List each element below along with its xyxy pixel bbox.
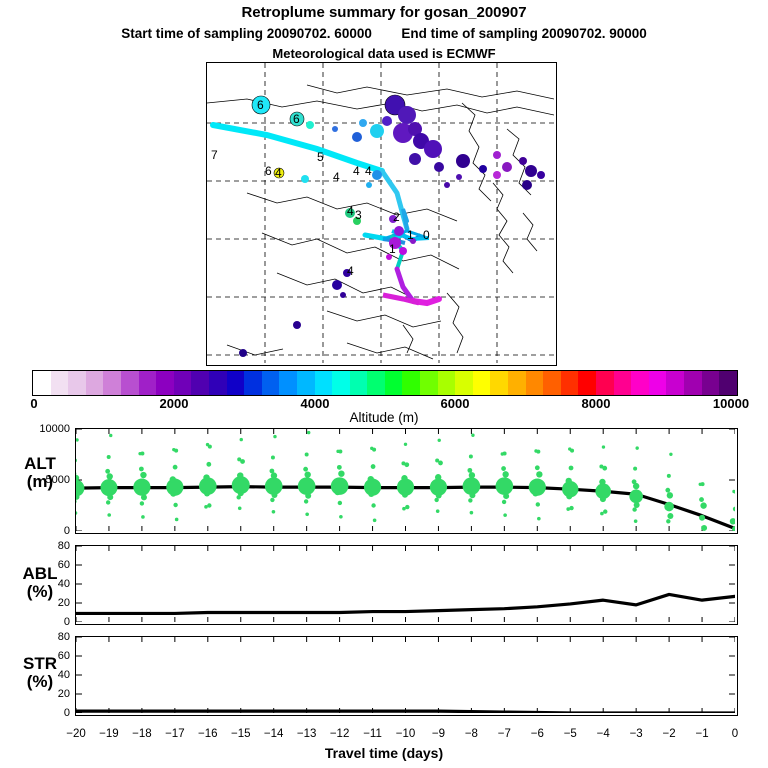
colorbar-swatch (174, 371, 192, 395)
colorbar-swatch (209, 371, 227, 395)
colorbar-swatch (262, 371, 280, 395)
colorbar-swatch (315, 371, 333, 395)
colorbar-tick-3: 6000 (441, 396, 470, 411)
str-ytick-60: 60 (24, 650, 70, 662)
colorbar-swatch (684, 371, 702, 395)
colorbar-swatch (51, 371, 69, 395)
colorbar-swatch (103, 371, 121, 395)
colorbar-swatch (526, 371, 544, 395)
colorbar-tick-0: 0 (30, 396, 37, 411)
colorbar-swatch (332, 371, 350, 395)
str-ytick-80: 80 (24, 631, 70, 643)
svg-text:3: 3 (355, 208, 362, 222)
svg-text:4: 4 (365, 164, 372, 178)
svg-text:4: 4 (347, 264, 354, 278)
svg-text:6: 6 (293, 112, 300, 126)
svg-text:4: 4 (347, 204, 354, 218)
svg-text:4: 4 (353, 164, 360, 178)
colorbar-swatch (438, 371, 456, 395)
colorbar-swatch (649, 371, 667, 395)
colorbar-swatch (33, 371, 51, 395)
svg-text:6: 6 (265, 164, 272, 178)
colorbar-tick-4: 8000 (582, 396, 611, 411)
met-data-label: Meteorological data used is ECMWF (0, 46, 768, 61)
abl-ytick-20: 20 (24, 597, 70, 609)
svg-text:0: 0 (423, 228, 430, 242)
abl-ytick-80: 80 (24, 540, 70, 552)
colorbar-swatch (473, 371, 491, 395)
svg-text:1: 1 (389, 242, 396, 256)
retroplume-map: 6 6 7 6 4 5 4 4 4 4 3 2 1 1 4 0 (206, 62, 557, 366)
abl-plot (75, 545, 738, 625)
colorbar-swatch (121, 371, 139, 395)
alt-ytick-10000: 10000 (24, 423, 70, 435)
colorbar-swatch (719, 371, 737, 395)
x-axis-title: Travel time (days) (0, 745, 768, 761)
abl-ytick-60: 60 (24, 559, 70, 571)
page-title: Retroplume summary for gosan_200907 (0, 4, 768, 21)
sampling-times: Start time of sampling 20090702. 60000 E… (0, 26, 768, 41)
colorbar-swatch (666, 371, 684, 395)
colorbar-swatch (508, 371, 526, 395)
str-ytick-20: 20 (24, 688, 70, 700)
colorbar-tick-2: 4000 (301, 396, 330, 411)
colorbar-swatch (156, 371, 174, 395)
alt-label-line1: ALT (8, 455, 72, 473)
colorbar-swatch (279, 371, 297, 395)
start-time-label: Start time of sampling 20090702. 60000 (121, 26, 372, 41)
colorbar-swatch (702, 371, 720, 395)
abl-ytick-40: 40 (24, 578, 70, 590)
colorbar-swatch (191, 371, 209, 395)
colorbar-swatch (244, 371, 262, 395)
x-tick-label: 0 (715, 728, 755, 740)
alt-plot (75, 428, 738, 534)
colorbar-swatch (68, 371, 86, 395)
svg-text:4: 4 (333, 170, 340, 184)
svg-text:1: 1 (407, 228, 414, 242)
end-time-label: End time of sampling 20090702. 90000 (401, 26, 646, 41)
colorbar-swatch (350, 371, 368, 395)
colorbar-swatch (139, 371, 157, 395)
svg-text:4: 4 (275, 166, 282, 180)
svg-text:5: 5 (317, 150, 324, 164)
colorbar-swatch (490, 371, 508, 395)
svg-text:2: 2 (393, 210, 400, 224)
str-ytick-40: 40 (24, 669, 70, 681)
colorbar-swatch (402, 371, 420, 395)
colorbar-tick-1: 2000 (160, 396, 189, 411)
str-plot (75, 636, 738, 716)
abl-ytick-0: 0 (24, 616, 70, 628)
colorbar-swatch (455, 371, 473, 395)
alt-ytick-0: 0 (24, 525, 70, 537)
colorbar-swatch (631, 371, 649, 395)
colorbar-swatch (543, 371, 561, 395)
colorbar-swatch (614, 371, 632, 395)
colorbar-tick-5: 10000 (713, 396, 749, 411)
svg-text:6: 6 (257, 98, 264, 112)
alt-ytick-5000: 5000 (24, 474, 70, 486)
colorbar-swatch (561, 371, 579, 395)
colorbar-swatch (596, 371, 614, 395)
colorbar-swatch (86, 371, 104, 395)
colorbar-title: Altitude (m) (0, 410, 768, 425)
colorbar-swatch (227, 371, 245, 395)
colorbar-swatch (385, 371, 403, 395)
colorbar-swatch (297, 371, 315, 395)
altitude-colorbar (32, 370, 738, 396)
colorbar-swatch (578, 371, 596, 395)
colorbar-swatch (367, 371, 385, 395)
colorbar-swatch (420, 371, 438, 395)
str-ytick-0: 0 (24, 707, 70, 719)
svg-text:7: 7 (211, 148, 218, 162)
